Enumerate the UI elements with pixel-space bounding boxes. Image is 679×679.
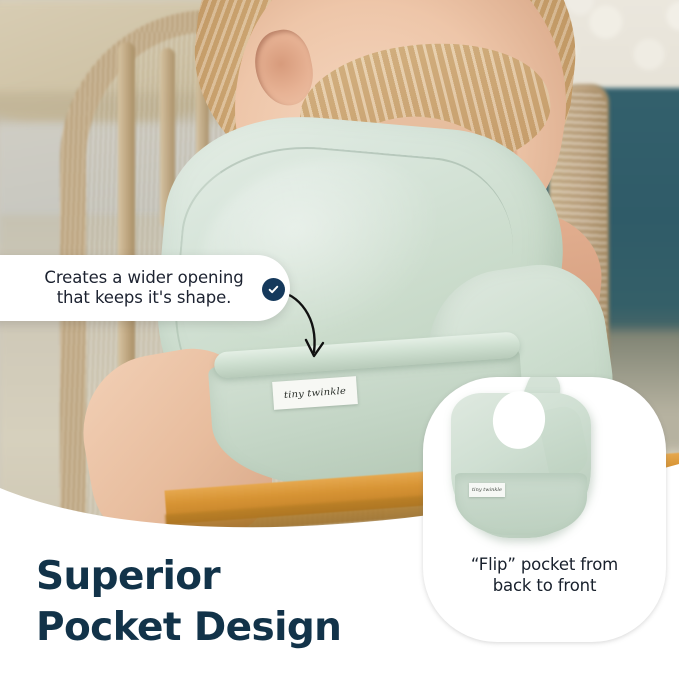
inset-brand-tag: tiny twinkle xyxy=(469,483,505,497)
inset-caption-line-1: “Flip” pocket from xyxy=(471,555,618,574)
brand-tag: tiny twinkle xyxy=(272,376,358,410)
callout-bubble: Creates a wider opening that keeps it's … xyxy=(0,255,290,321)
headline-line-2: Pocket Design xyxy=(36,603,341,654)
inset-card-caption: “Flip” pocket from back to front xyxy=(423,555,666,597)
callout-text: Creates a wider opening that keeps it's … xyxy=(4,268,251,309)
check-circle-icon xyxy=(262,278,285,301)
callout-line-1: Creates a wider opening xyxy=(44,268,243,287)
page-title: Superior Pocket Design xyxy=(36,552,341,653)
inset-caption-line-2: back to front xyxy=(493,576,597,595)
brand-tag-text: tiny twinkle xyxy=(284,386,347,400)
headline-line-1: Superior xyxy=(36,554,220,599)
inset-brand-tag-text: tiny twinkle xyxy=(472,487,502,493)
marketing-image-canvas: tiny twinkle Creates a wider opening tha… xyxy=(0,0,679,679)
callout-line-2: that keeps it's shape. xyxy=(57,288,232,307)
inset-card: tiny twinkle “Flip” pocket from back to … xyxy=(423,377,666,642)
inset-card-photo: tiny twinkle xyxy=(423,377,666,557)
